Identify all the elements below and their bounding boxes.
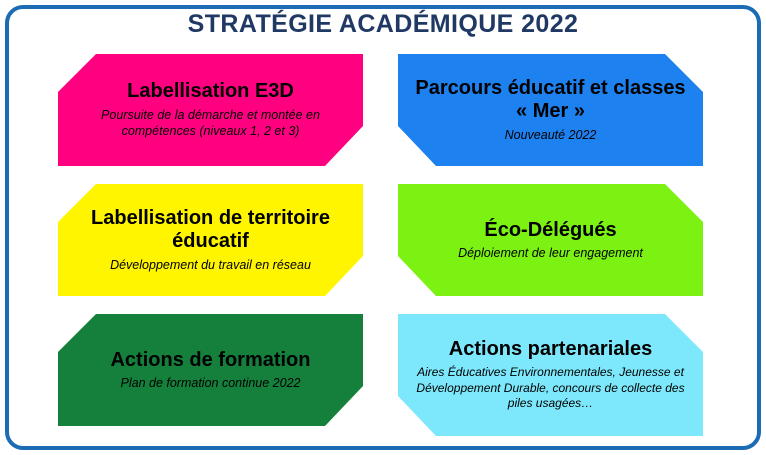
block-subtitle: Plan de formation continue 2022	[121, 375, 301, 391]
block-subtitle: Poursuite de la démarche et montée en co…	[74, 107, 347, 140]
banner-shape: Parcours éducatif et classes « Mer » Nou…	[398, 54, 703, 166]
block-subtitle: Aires Éducatives Environnementales, Jeun…	[414, 365, 687, 412]
banner-shape: Labellisation E3D Poursuite de la démarc…	[58, 54, 363, 166]
banner-shape: Actions partenariales Aires Éducatives E…	[398, 314, 703, 436]
page-title: STRATÉGIE ACADÉMIQUE 2022	[0, 10, 766, 39]
block-subtitle: Nouveauté 2022	[505, 127, 597, 143]
block-heading: Éco-Délégués	[484, 219, 616, 243]
strategy-block-actions-de-formation[interactable]: Actions de formation Plan de formation c…	[58, 314, 363, 426]
block-heading: Labellisation E3D	[127, 80, 294, 104]
banner-shape: Éco-Délégués Déploiement de leur engagem…	[398, 184, 703, 296]
block-heading: Actions partenariales	[449, 338, 652, 362]
strategy-block-labellisation-territoire[interactable]: Labellisation de territoire éducatif Dév…	[58, 184, 363, 296]
banner-shape: Actions de formation Plan de formation c…	[58, 314, 363, 426]
block-subtitle: Développement du travail en réseau	[110, 257, 311, 273]
block-heading: Actions de formation	[110, 349, 310, 373]
strategy-block-actions-partenariales[interactable]: Actions partenariales Aires Éducatives E…	[398, 314, 703, 436]
strategy-block-labellisation-e3d[interactable]: Labellisation E3D Poursuite de la démarc…	[58, 54, 363, 166]
strategy-poster: STRATÉGIE ACADÉMIQUE 2022 Labellisation …	[0, 0, 766, 455]
block-subtitle: Déploiement de leur engagement	[458, 245, 643, 261]
banner-shape: Labellisation de territoire éducatif Dév…	[58, 184, 363, 296]
strategy-block-eco-delegues[interactable]: Éco-Délégués Déploiement de leur engagem…	[398, 184, 703, 296]
strategy-block-parcours-educatif[interactable]: Parcours éducatif et classes « Mer » Nou…	[398, 54, 703, 166]
strategy-blocks-grid: Labellisation E3D Poursuite de la démarc…	[0, 48, 766, 448]
block-heading: Parcours éducatif et classes « Mer »	[414, 77, 687, 124]
block-heading: Labellisation de territoire éducatif	[74, 207, 347, 254]
